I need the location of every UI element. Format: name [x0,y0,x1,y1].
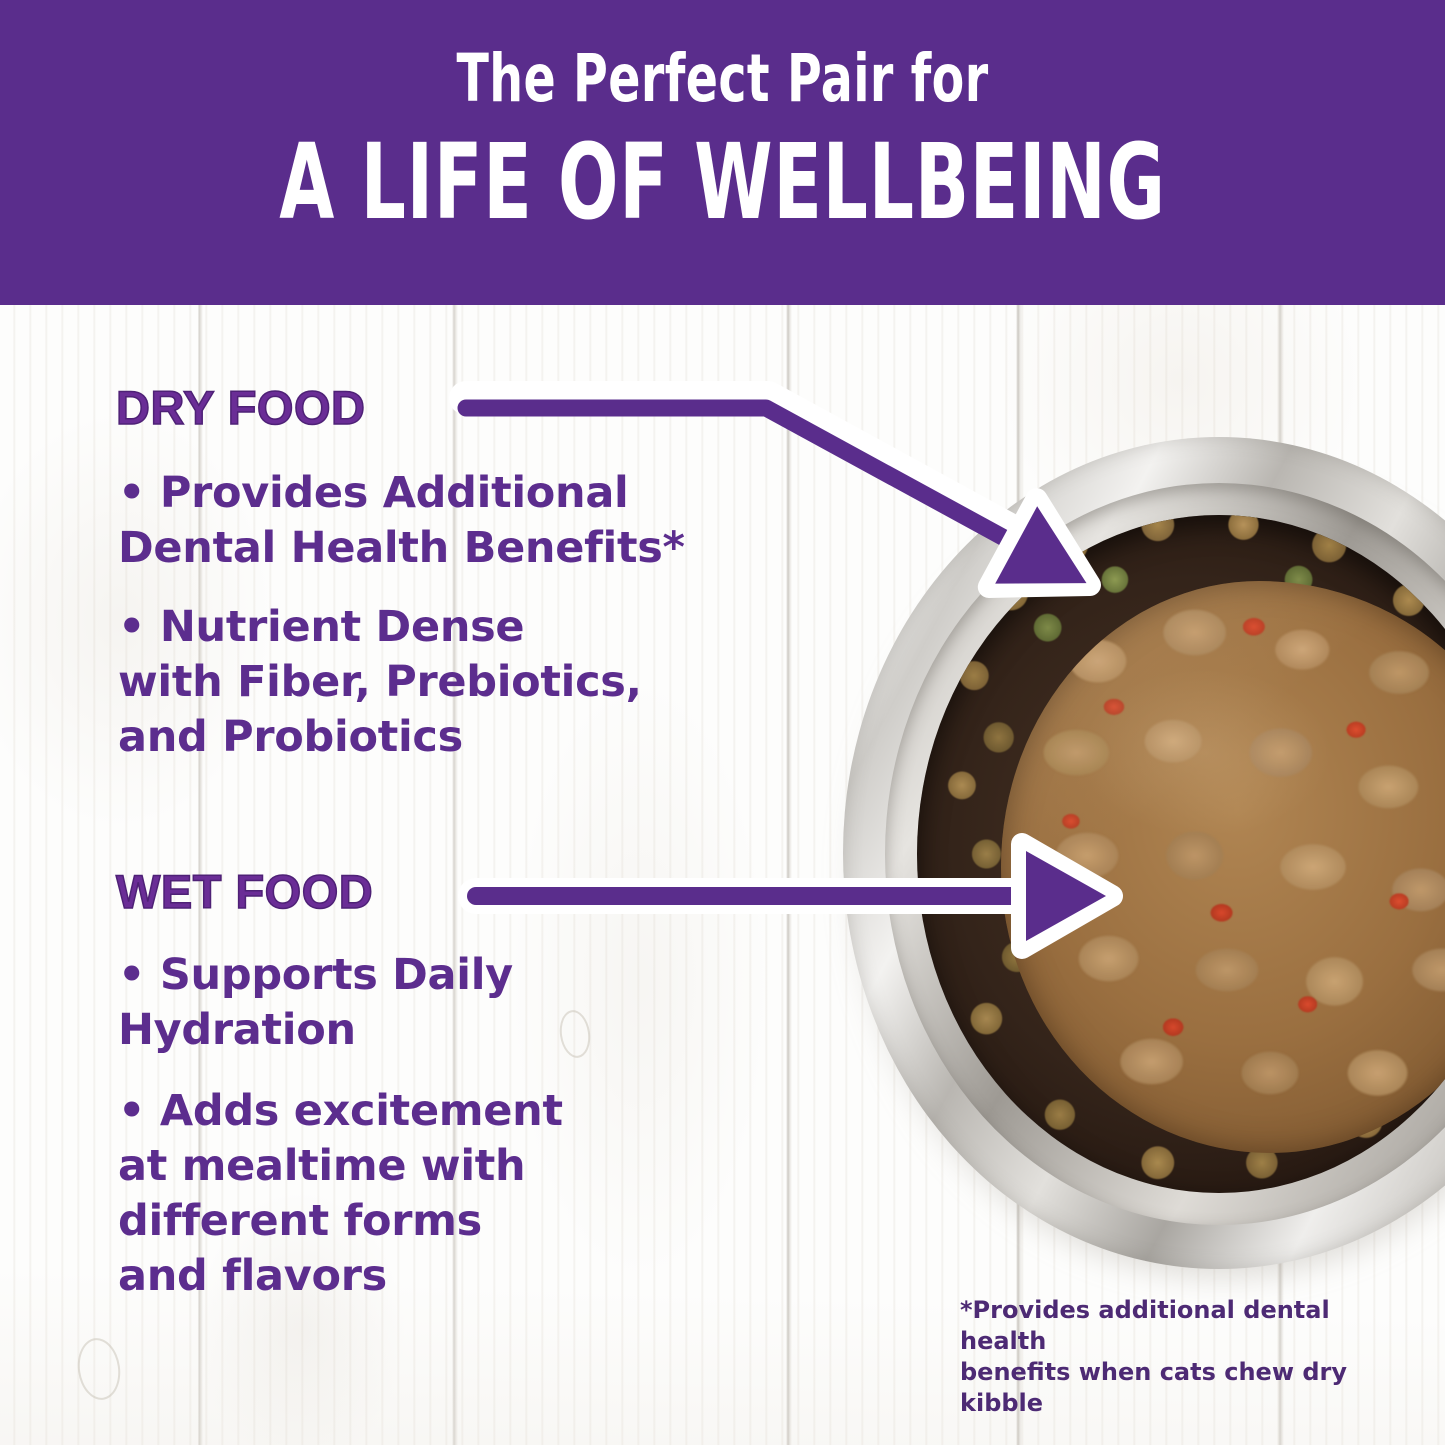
promo-infographic: The Perfect Pair for A LIFE OF WELLBEING… [0,0,1445,1445]
dry-food-bullet-1: • Provides Additional Dental Health Bene… [118,466,798,576]
wet-food-bullet-1: • Supports Daily Hydration [118,948,798,1058]
footnote-text: *Provides additional dental health benef… [960,1295,1380,1419]
wet-food-bullet-2: • Adds excitement at mealtime with diffe… [118,1084,798,1304]
dry-food-bullet-2: • Nutrient Dense with Fiber, Prebiotics,… [118,600,798,765]
wet-food-arrow [476,844,1112,948]
dry-food-heading: DRY FOOD [116,384,365,431]
wet-food-heading: WET FOOD [116,868,373,915]
